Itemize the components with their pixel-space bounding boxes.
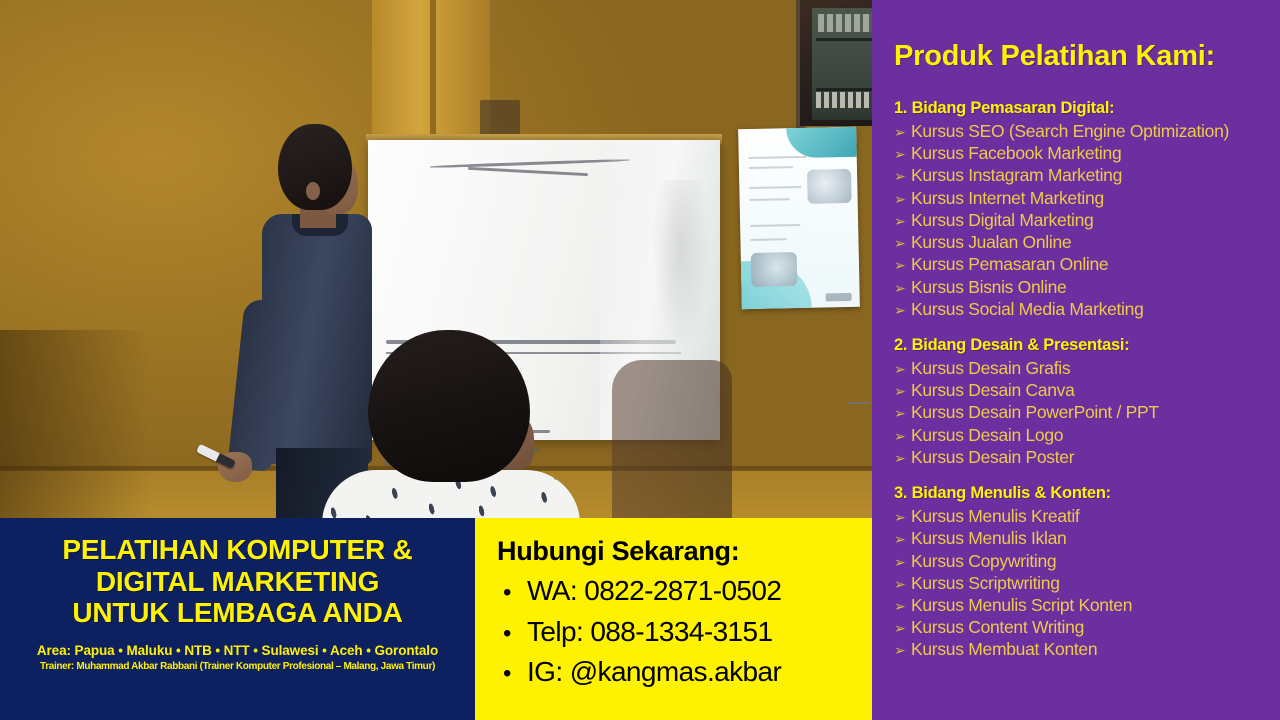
wall-shadow [0, 330, 150, 530]
product-item-label: Kursus Menulis Iklan [911, 527, 1066, 549]
arrow-bullet-icon: ➢ [894, 258, 911, 272]
product-item[interactable]: ➢Kursus Facebook Marketing [894, 142, 1280, 164]
product-item[interactable]: ➢Kursus Bisnis Online [894, 276, 1280, 298]
product-item-label: Kursus Membuat Konten [911, 638, 1097, 660]
product-item-label: Kursus Scriptwriting [911, 572, 1060, 594]
product-item-label: Kursus Menulis Kreatif [911, 505, 1079, 527]
poster-text-line [749, 166, 793, 169]
product-section-design-presentation: 2. Bidang Desain & Presentasi: ➢Kursus D… [894, 336, 1280, 468]
poster-text-line [749, 156, 807, 159]
product-item[interactable]: ➢Kursus Membuat Konten [894, 638, 1280, 660]
product-item-label: Kursus Facebook Marketing [911, 142, 1121, 164]
arrow-bullet-icon: ➢ [894, 147, 911, 161]
promotional-flyer: PELATIHAN KOMPUTER & DIGITAL MARKETING U… [0, 0, 1280, 720]
product-item[interactable]: ➢Kursus Pemasaran Online [894, 253, 1280, 275]
product-item[interactable]: ➢Kursus Menulis Script Konten [894, 594, 1280, 616]
contact-value-telephone: Telp: 088-1334-3151 [527, 612, 772, 653]
product-item-label: Kursus Desain Grafis [911, 357, 1070, 379]
product-item[interactable]: ➢Kursus SEO (Search Engine Optimization) [894, 120, 1280, 142]
product-item-label: Kursus Bisnis Online [911, 276, 1066, 298]
arrow-bullet-icon: ➢ [894, 384, 911, 398]
product-item[interactable]: ➢Kursus Scriptwriting [894, 572, 1280, 594]
arrow-bullet-icon: ➢ [894, 236, 911, 250]
section-heading: 1. Bidang Pemasaran Digital: [894, 99, 1280, 118]
section-heading: 2. Bidang Desain & Presentasi: [894, 336, 1280, 355]
headline-text: PELATIHAN KOMPUTER & DIGITAL MARKETING U… [62, 534, 412, 629]
product-item-label: Kursus Content Writing [911, 616, 1084, 638]
product-item-label: Kursus Pemasaran Online [911, 253, 1108, 275]
product-item[interactable]: ➢Kursus Instagram Marketing [894, 164, 1280, 186]
product-item-label: Kursus Internet Marketing [911, 187, 1104, 209]
product-item[interactable]: ➢Kursus Copywriting [894, 550, 1280, 572]
arrow-bullet-icon: ➢ [894, 621, 911, 635]
product-item-label: Kursus Menulis Script Konten [911, 594, 1132, 616]
product-section-writing-content: 3. Bidang Menulis & Konten: ➢Kursus Menu… [894, 484, 1280, 661]
product-item[interactable]: ➢Kursus Content Writing [894, 616, 1280, 638]
cabinet-books-top [818, 14, 872, 32]
product-item-label: Kursus Copywriting [911, 550, 1056, 572]
bullet-icon: • [497, 622, 527, 646]
arrow-bullet-icon: ➢ [894, 643, 911, 657]
poster-text-line [750, 198, 790, 201]
section-item-list: ➢Kursus SEO (Search Engine Optimization)… [894, 120, 1280, 320]
cabinet-books-bottom [816, 92, 872, 108]
product-item-label: Kursus Desain PowerPoint / PPT [911, 401, 1159, 423]
product-item[interactable]: ➢Kursus Digital Marketing [894, 209, 1280, 231]
section-heading: 3. Bidang Menulis & Konten: [894, 484, 1280, 503]
second-student [612, 360, 732, 530]
product-item[interactable]: ➢Kursus Desain Poster [894, 446, 1280, 468]
products-title: Produk Pelatihan Kami: [894, 40, 1280, 73]
poster-text-line [749, 186, 801, 189]
arrow-bullet-icon: ➢ [894, 406, 911, 420]
contact-panel: Hubungi Sekarang: • WA: 0822-2871-0502 •… [475, 518, 872, 720]
headline-line-1: PELATIHAN KOMPUTER & [62, 534, 412, 566]
product-item[interactable]: ➢Kursus Menulis Iklan [894, 527, 1280, 549]
contact-list: • WA: 0822-2871-0502 • Telp: 088-1334-31… [497, 571, 872, 693]
headline-line-2: DIGITAL MARKETING [62, 566, 412, 598]
product-section-digital-marketing: 1. Bidang Pemasaran Digital: ➢Kursus SEO… [894, 99, 1280, 320]
product-item-label: Kursus Social Media Marketing [911, 298, 1144, 320]
product-item[interactable]: ➢Kursus Menulis Kreatif [894, 505, 1280, 527]
student-head [368, 330, 530, 482]
arrow-bullet-icon: ➢ [894, 577, 911, 591]
products-panel: Produk Pelatihan Kami: 1. Bidang Pemasar… [872, 0, 1280, 720]
contact-value-instagram: IG: @kangmas.akbar [527, 652, 781, 693]
contact-item-whatsapp[interactable]: • WA: 0822-2871-0502 [497, 571, 872, 612]
arrow-bullet-icon: ➢ [894, 125, 911, 139]
cabinet-shelf [816, 88, 872, 91]
trainer-credit-text: Trainer: Muhammad Akbar Rabbani (Trainer… [40, 661, 435, 672]
product-item[interactable]: ➢Kursus Internet Marketing [894, 187, 1280, 209]
product-item-label: Kursus Desain Canva [911, 379, 1075, 401]
product-item[interactable]: ➢Kursus Social Media Marketing [894, 298, 1280, 320]
product-item[interactable]: ➢Kursus Desain PowerPoint / PPT [894, 401, 1280, 423]
contact-value-whatsapp: WA: 0822-2871-0502 [527, 571, 781, 612]
contact-item-instagram[interactable]: • IG: @kangmas.akbar [497, 652, 872, 693]
arrow-bullet-icon: ➢ [894, 555, 911, 569]
product-item-label: Kursus SEO (Search Engine Optimization) [911, 120, 1229, 142]
bullet-icon: • [497, 662, 527, 686]
poster-accent-top [786, 127, 857, 158]
product-item[interactable]: ➢Kursus Desain Logo [894, 424, 1280, 446]
arrow-bullet-icon: ➢ [894, 281, 911, 295]
whiteboard-mark [848, 402, 870, 404]
service-area-text: Area: Papua • Maluku • NTB • NTT • Sulaw… [37, 643, 438, 658]
product-item[interactable]: ➢Kursus Jualan Online [894, 231, 1280, 253]
headline-panel: PELATIHAN KOMPUTER & DIGITAL MARKETING U… [0, 518, 475, 720]
poster-image [751, 252, 798, 287]
product-item-label: Kursus Jualan Online [911, 231, 1071, 253]
headline-line-3: UNTUK LEMBAGA ANDA [62, 597, 412, 629]
poster-logo [826, 293, 852, 302]
product-item-label: Kursus Digital Marketing [911, 209, 1093, 231]
section-item-list: ➢Kursus Menulis Kreatif ➢Kursus Menulis … [894, 505, 1280, 661]
contact-item-telephone[interactable]: • Telp: 088-1334-3151 [497, 612, 872, 653]
whiteboard-writing [468, 167, 588, 176]
product-item-label: Kursus Instagram Marketing [911, 164, 1122, 186]
wall-poster [738, 127, 860, 309]
product-item[interactable]: ➢Kursus Desain Grafis [894, 357, 1280, 379]
arrow-bullet-icon: ➢ [894, 192, 911, 206]
cabinet-shelf [816, 38, 872, 41]
poster-text-line [750, 238, 786, 241]
product-item-label: Kursus Desain Logo [911, 424, 1063, 446]
product-item-label: Kursus Desain Poster [911, 446, 1074, 468]
arrow-bullet-icon: ➢ [894, 303, 911, 317]
arrow-bullet-icon: ➢ [894, 169, 911, 183]
poster-text-line [750, 224, 800, 227]
arrow-bullet-icon: ➢ [894, 599, 911, 613]
contact-title: Hubungi Sekarang: [497, 536, 872, 567]
poster-image [807, 169, 852, 204]
arrow-bullet-icon: ➢ [894, 214, 911, 228]
trainer-ear [306, 182, 320, 200]
arrow-bullet-icon: ➢ [894, 510, 911, 524]
arrow-bullet-icon: ➢ [894, 532, 911, 546]
product-item[interactable]: ➢Kursus Desain Canva [894, 379, 1280, 401]
pillar-edge [430, 0, 436, 150]
section-item-list: ➢Kursus Desain Grafis ➢Kursus Desain Can… [894, 357, 1280, 468]
arrow-bullet-icon: ➢ [894, 362, 911, 376]
bullet-icon: • [497, 581, 527, 605]
arrow-bullet-icon: ➢ [894, 429, 911, 443]
arrow-bullet-icon: ➢ [894, 451, 911, 465]
